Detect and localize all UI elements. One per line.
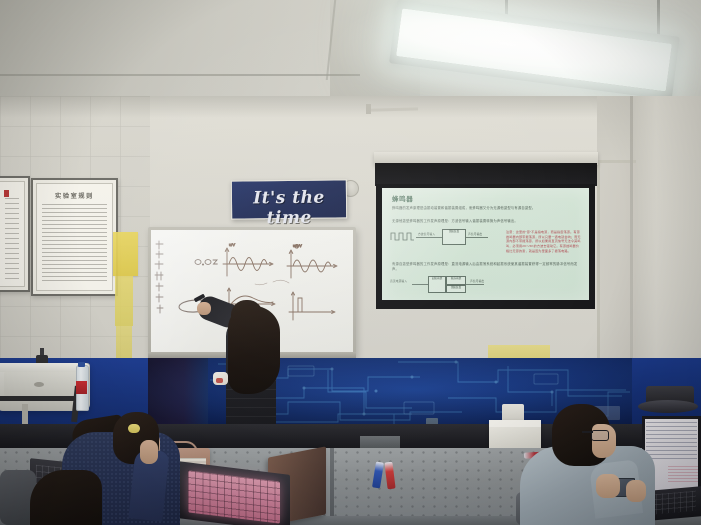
projector-screen-black-border [375, 163, 597, 186]
glasses-temple [582, 431, 593, 433]
poster-inner [0, 181, 25, 287]
poster-inner: 实验室规则 [36, 183, 113, 291]
yellow-tape-patch [113, 232, 138, 276]
yellow-hair-tie [128, 424, 140, 433]
ceiling-left-panel [0, 0, 330, 108]
student-whiteboard-hair [228, 306, 280, 394]
bottle-cap [78, 362, 85, 367]
student-whiteboard-hand [197, 302, 211, 315]
classroom-photo: 实验室规则 It's the time [0, 0, 701, 525]
yellow-tape-patch [115, 276, 133, 326]
glasses-icon [591, 430, 609, 441]
student-left-hair [30, 470, 102, 525]
pillar-soffit [597, 96, 633, 160]
laptop-document-text-lines [646, 422, 697, 462]
its-the-time-sign: It's the time [231, 179, 347, 219]
yellow-tape-patch [116, 326, 132, 362]
student-left-hand [140, 440, 158, 464]
poster-title: 实验室规则 [37, 191, 112, 200]
lab-rules-poster: 实验室规则 [31, 178, 118, 296]
monitor-stand [638, 400, 698, 413]
poster-text-lines [5, 198, 19, 280]
sink-drain [34, 382, 44, 387]
notice-board-small [0, 176, 30, 292]
bottle-label [76, 381, 87, 394]
laptop-document-highlight [668, 466, 698, 482]
ceiling-seam [0, 74, 360, 76]
corner-pillar [632, 96, 701, 386]
sign-text: It's the time [232, 187, 346, 228]
poster-red-mark [4, 190, 9, 197]
tissue-red-mark [216, 378, 223, 383]
student-right-hand [626, 480, 646, 502]
white-storage-box-lid [489, 420, 541, 427]
sink-rim [0, 363, 88, 372]
projector-screen-sheen [382, 188, 589, 301]
wall-top-shadow [0, 96, 701, 118]
student-right-hand [596, 474, 620, 498]
sink-drain-pipe [22, 404, 28, 426]
wall-pipe-bracket [366, 104, 371, 114]
poster-text-lines [42, 204, 107, 284]
pillar-edge [630, 96, 633, 386]
projector-screen-bottom-bar [376, 300, 595, 309]
bench-seam [330, 448, 334, 525]
